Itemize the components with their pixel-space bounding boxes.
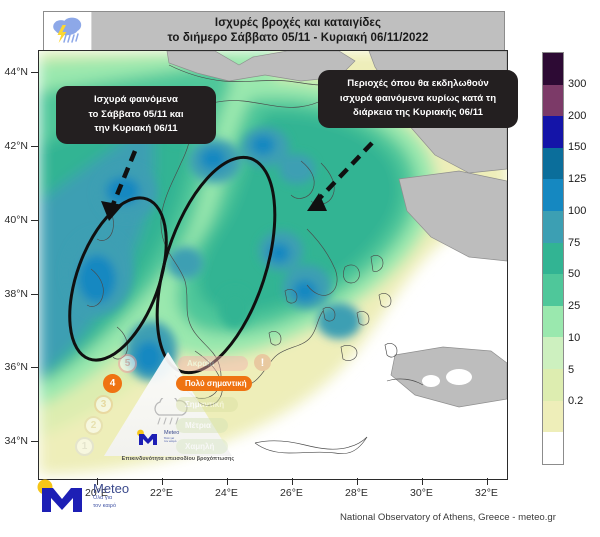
- brand-tagline-2: τον καιρό: [93, 503, 129, 511]
- colorbar-cell-3: [543, 148, 563, 180]
- colorbar-label: 25: [568, 300, 580, 312]
- title-text-container: Ισχυρές βροχές και καταιγίδες το διήμερο…: [92, 12, 504, 50]
- colorbar-label: 0.2: [568, 395, 583, 407]
- lat-tick: [31, 72, 38, 73]
- pyramid-level-1-label: Χαμηλή: [176, 439, 228, 454]
- exclamation-icon: !: [254, 354, 271, 371]
- pyramid-level-1-number: 1: [75, 437, 94, 456]
- lon-tick: [422, 478, 423, 485]
- colorbar-label: 10: [568, 332, 580, 344]
- meteo-brand: Meteo Όλα για τον καιρό: [36, 478, 129, 514]
- colorbar-label: 300: [568, 78, 586, 90]
- lat-tick: [31, 220, 38, 221]
- pyramid-level-2-label: Μέτρια: [176, 418, 228, 433]
- lon-tick: [487, 478, 488, 485]
- pyramid-level-5-label: Ακραία: [178, 356, 248, 371]
- colorbar-label: 125: [568, 173, 586, 185]
- callout-left: Ισχυρά φαινόμενα το Σάββατο 05/11 και τη…: [56, 86, 216, 144]
- title-banner: Ισχυρές βροχές και καταιγίδες το διήμερο…: [43, 11, 505, 51]
- lat-tick: [31, 367, 38, 368]
- colorbar-label: 75: [568, 237, 580, 249]
- lat-label: 34°N: [0, 435, 28, 447]
- callout-left-line-1: Ισχυρά φαινόμενα: [67, 93, 205, 108]
- title-icon-container: [44, 12, 92, 50]
- footer-credit: National Observatory of Athens, Greece -…: [340, 512, 556, 523]
- pyramid-level-4-number: 4: [103, 374, 122, 393]
- callout-right-line-2: ισχυρά φαινόμενα κυρίως κατά τη: [329, 92, 507, 107]
- lat-label: 36°N: [0, 361, 28, 373]
- colorbar-cell-4: [543, 179, 563, 211]
- lon-label: 28°E: [335, 487, 379, 499]
- lon-tick: [227, 478, 228, 485]
- title-line-2: το διήμερο Σάββατο 05/11 - Κυριακή 06/11…: [168, 31, 429, 46]
- callout-left-line-2: το Σάββατο 05/11 και: [67, 108, 205, 123]
- lat-label: 40°N: [0, 214, 28, 226]
- colorbar-cell-7: [543, 274, 563, 306]
- colorbar-cell-12: [543, 432, 563, 464]
- colorbar-cell-5: [543, 211, 563, 243]
- lat-label: 38°N: [0, 288, 28, 300]
- callout-right: Περιοχές όπου θα εκδηλωθούν ισχυρά φαινό…: [318, 70, 518, 128]
- lat-tick: [31, 294, 38, 295]
- lon-tick: [357, 478, 358, 485]
- colorbar-cell-2: [543, 116, 563, 148]
- pyramid-level-3-number: 3: [94, 395, 113, 414]
- lon-tick: [162, 478, 163, 485]
- meteo-logo-icon: [136, 429, 162, 446]
- pyramid-level-3-label: Σημαντική: [176, 397, 238, 412]
- pyramid-level-2-number: 2: [84, 416, 103, 435]
- lon-label: 30°E: [400, 487, 444, 499]
- title-line-1: Ισχυρές βροχές και καταιγίδες: [215, 16, 381, 31]
- callout-left-line-3: την Κυριακή 06/11: [67, 122, 205, 137]
- meteo-m-logo-icon: [36, 478, 88, 514]
- colorbar-cell-11: [543, 401, 563, 433]
- thunderstorm-rain-cloud-icon: [50, 15, 86, 47]
- lat-label: 42°N: [0, 140, 28, 152]
- pyramid-level-4-label: Πολύ σημαντική: [176, 376, 252, 391]
- colorbar-cell-10: [543, 369, 563, 401]
- lon-label: 26°E: [270, 487, 314, 499]
- lon-tick: [292, 478, 293, 485]
- colorbar-cell-9: [543, 337, 563, 369]
- colorbar-label: 200: [568, 110, 586, 122]
- lat-label: 44°N: [0, 66, 28, 78]
- brand-text: Meteo Όλα για τον καιρό: [93, 482, 129, 511]
- callout-right-line-3: διάρκεια της Κυριακής 06/11: [329, 106, 507, 121]
- colorbar-label: 100: [568, 205, 586, 217]
- lat-tick: [31, 441, 38, 442]
- colorbar: [542, 52, 564, 465]
- severity-pyramid-legend: ! Meteo Όλα για τον καιρό Επικινδυνότητα…: [72, 352, 284, 470]
- lon-label: 24°E: [205, 487, 249, 499]
- lon-label: 32°E: [465, 487, 509, 499]
- colorbar-cell-6: [543, 243, 563, 275]
- colorbar-cell-8: [543, 306, 563, 338]
- colorbar-cell-1: [543, 85, 563, 117]
- callout-right-line-1: Περιοχές όπου θα εκδηλωθούν: [329, 77, 507, 92]
- colorbar-label: 50: [568, 268, 580, 280]
- lat-tick: [31, 146, 38, 147]
- pyramid-caption: Επικινδυνότητα επεισοδίου βροχόπτωσης: [72, 456, 284, 462]
- colorbar-label: 150: [568, 141, 586, 153]
- brand-tagline-1: Όλα για: [93, 495, 129, 503]
- colorbar-label: 5: [568, 364, 574, 376]
- brand-name: Meteo: [93, 482, 129, 496]
- pyramid-meteo-logo: Meteo Όλα για τον καιρό: [136, 429, 179, 446]
- pyramid-level-5-number: 5: [118, 354, 137, 373]
- colorbar-cell-0: [543, 53, 563, 85]
- lon-label: 22°E: [140, 487, 184, 499]
